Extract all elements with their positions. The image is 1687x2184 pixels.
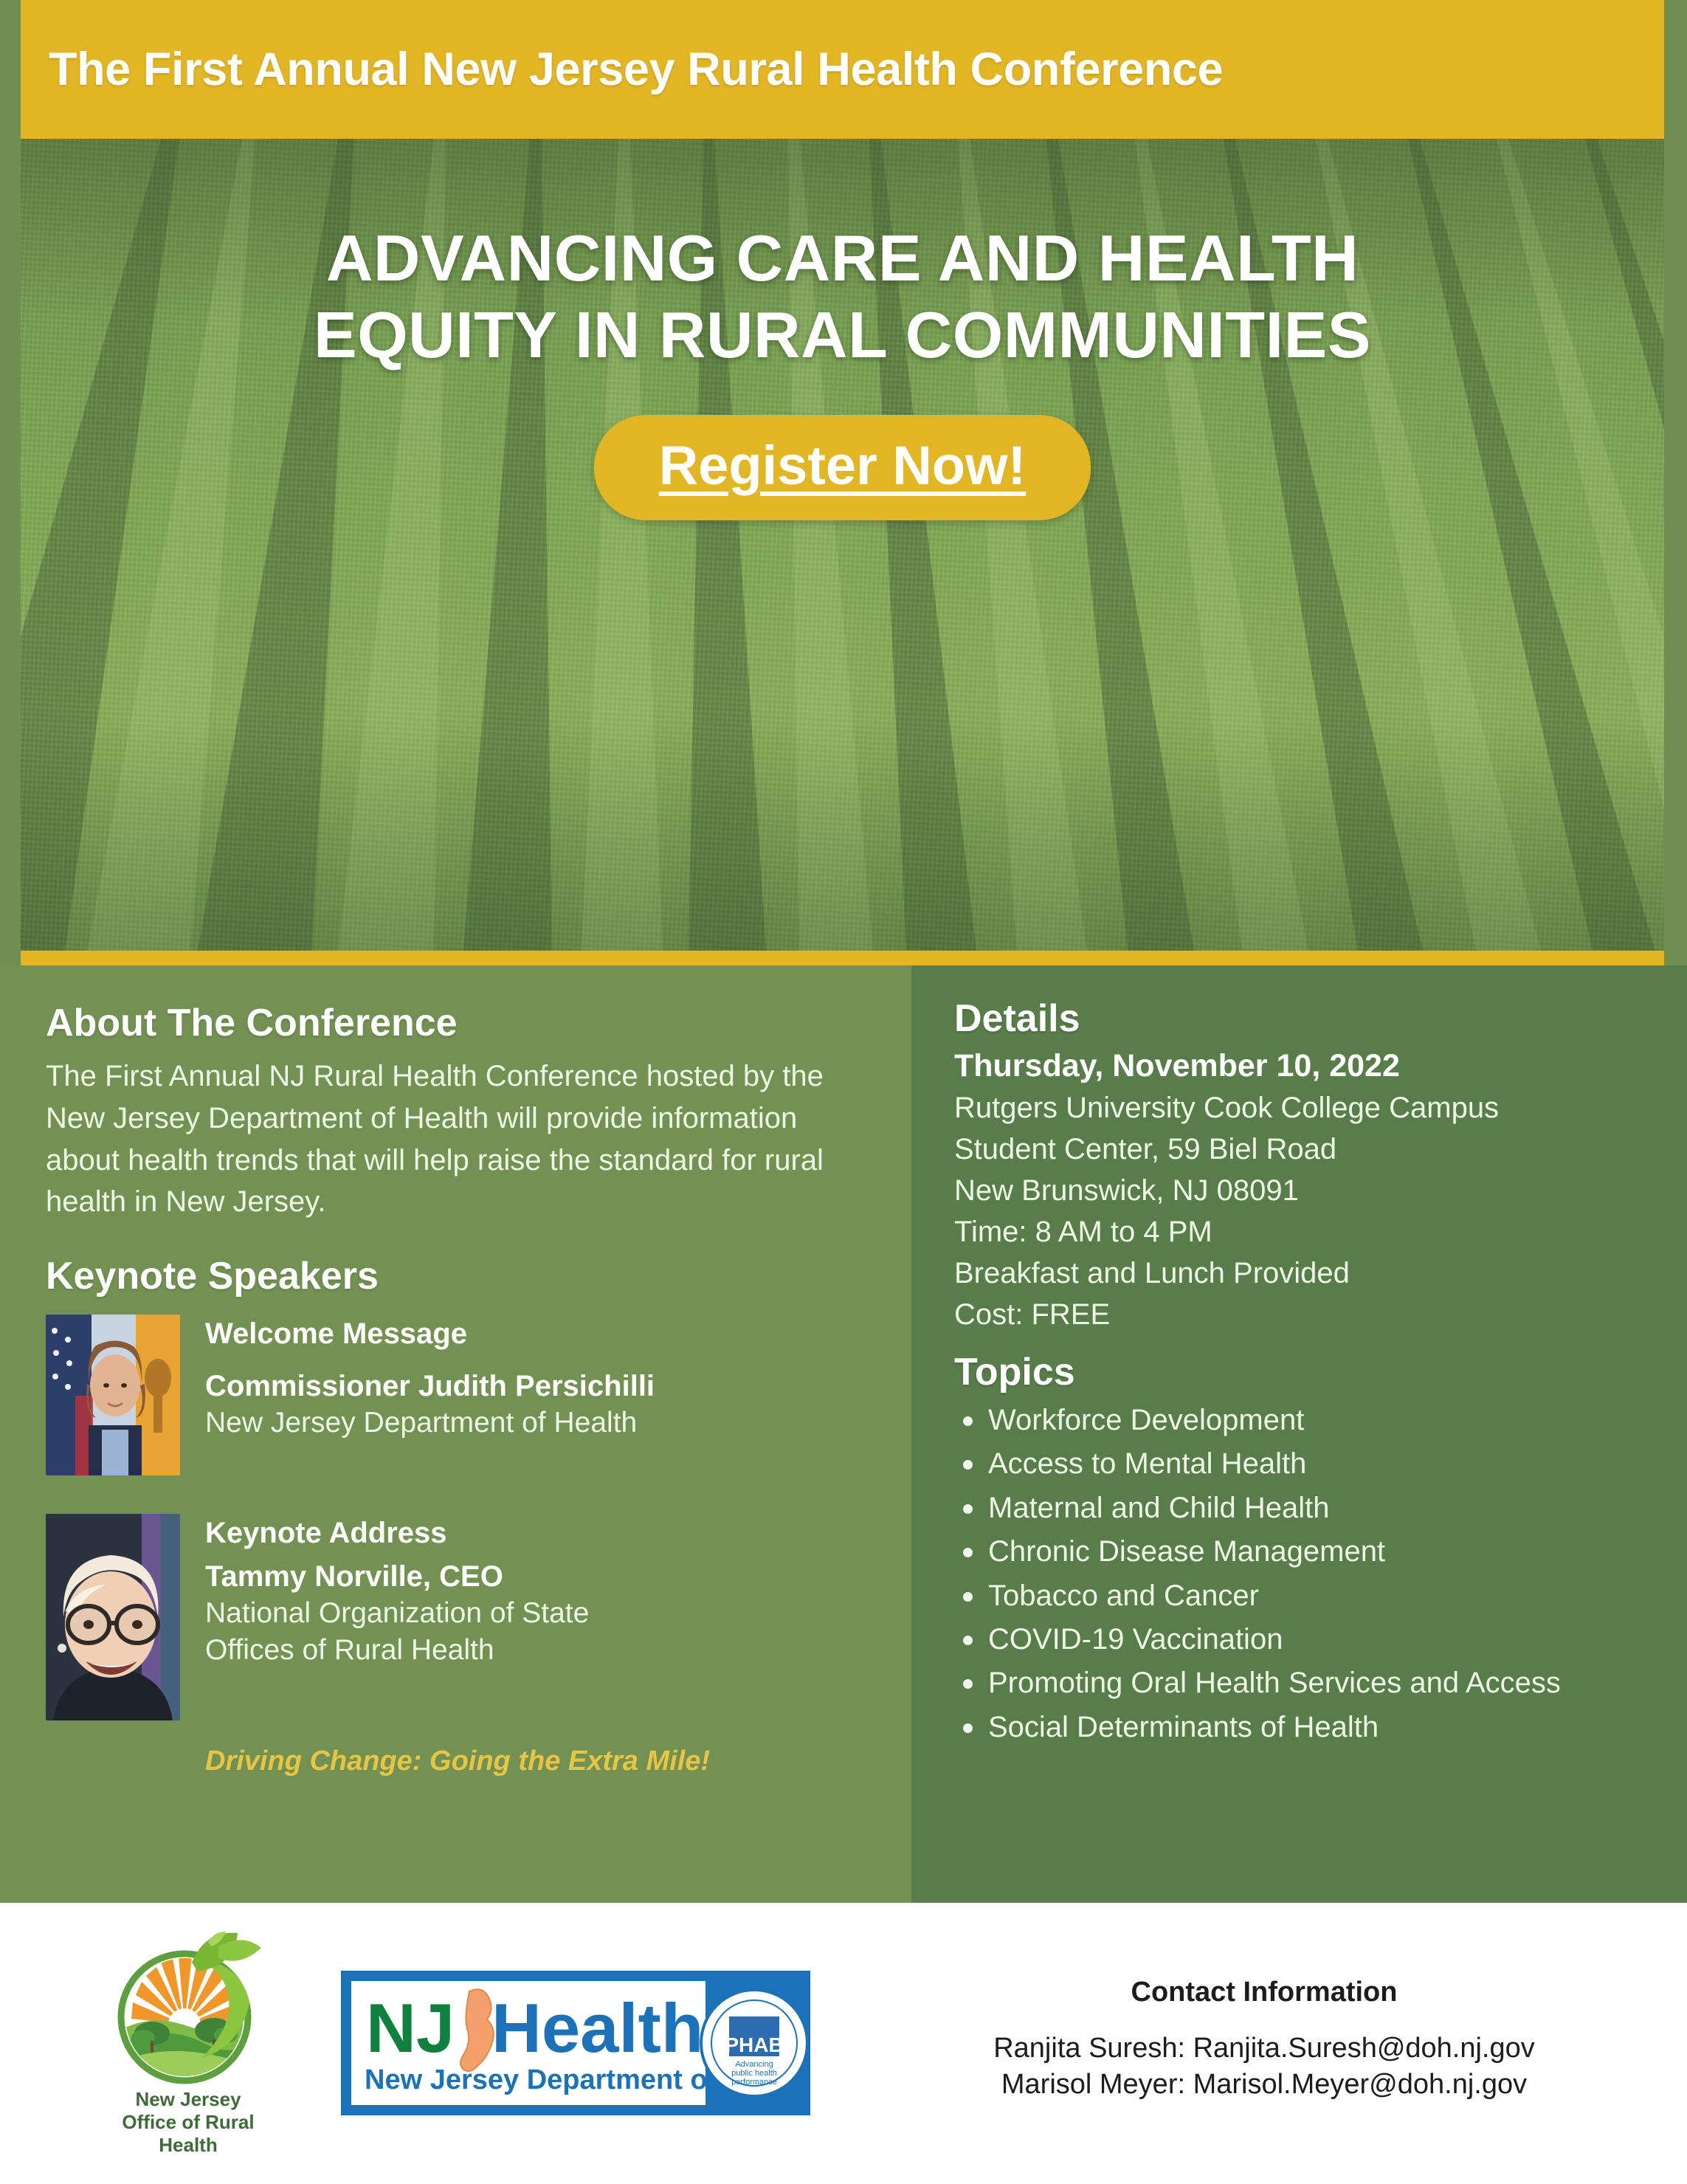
topic-item: Chronic Disease Management [954, 1532, 1650, 1571]
contact-heading: Contact Information [886, 1977, 1643, 2008]
speaker-role: Welcome Message [205, 1317, 655, 1351]
svg-text:Health: Health [491, 1989, 703, 2067]
speaker-photo-norville [46, 1514, 180, 1720]
right-column: Details Thursday, November 10, 2022 Rutg… [911, 965, 1687, 1903]
footer-logos: New Jersey Office of Rural Health NJ H [0, 1930, 886, 2156]
speaker-role: Keynote Address [205, 1517, 589, 1550]
svg-text:NJ: NJ [366, 1989, 455, 2067]
topics-list: Workforce Development Access to Mental H… [954, 1400, 1650, 1747]
svg-text:public health: public health [731, 2069, 777, 2078]
speaker-org-line-2: Offices of Rural Health [205, 1632, 589, 1669]
speaker-photo-persichilli [46, 1315, 180, 1475]
contact-information: Contact Information Ranjita Suresh: Ranj… [886, 1977, 1687, 2104]
speaker-name: Tammy Norville, CEO [205, 1560, 589, 1594]
hero-title-line-2: EQUITY IN RURAL COMMUNITIES [65, 297, 1620, 373]
contact-email-marisol: Marisol Meyer: Marisol.Meyer@doh.nj.gov [886, 2067, 1643, 2103]
rural-health-emblem-icon [111, 1930, 266, 2085]
details-line: Student Center, 59 Biel Road [954, 1129, 1650, 1170]
topic-item: Workforce Development [954, 1400, 1650, 1440]
gold-divider [21, 951, 1664, 965]
topics-heading: Topics [954, 1350, 1650, 1394]
register-now-label: Register Now! [659, 435, 1027, 496]
conference-flyer: The First Annual New Jersey Rural Health… [0, 0, 1687, 2184]
topic-item: Maternal and Child Health [954, 1488, 1650, 1528]
contact-email-ranjita: Ranjita Suresh: Ranjita.Suresh@doh.nj.go… [886, 2030, 1643, 2067]
svg-text:PHAB: PHAB [725, 2033, 783, 2056]
rural-health-caption-line-1: New Jersey [96, 2088, 280, 2111]
keynote-tagline: Driving Change: Going the Extra Mile! [205, 1746, 869, 1777]
details-line: Rutgers University Cook College Campus [954, 1087, 1650, 1129]
speaker-org: New Jersey Department of Health [205, 1405, 655, 1441]
about-heading: About The Conference [46, 1001, 869, 1045]
details-line: Time: 8 AM to 4 PM [954, 1211, 1650, 1253]
details-line: New Brunswick, NJ 08091 [954, 1170, 1650, 1211]
page-title: The First Annual New Jersey Rural Health… [49, 43, 1223, 96]
speaker-item: Welcome Message Commissioner Judith Pers… [46, 1315, 869, 1475]
speaker-text: Welcome Message Commissioner Judith Pers… [205, 1315, 655, 1441]
topic-item: COVID-19 Vaccination [954, 1619, 1650, 1659]
details-line: Breakfast and Lunch Provided [954, 1253, 1650, 1294]
svg-text:performance: performance [731, 2078, 777, 2087]
topic-item: Tobacco and Cancer [954, 1576, 1650, 1616]
speaker-org-line-1: National Organization of State [205, 1595, 589, 1632]
details-heading: Details [954, 996, 1650, 1041]
details-line: Cost: FREE [954, 1294, 1650, 1335]
hero-content: ADVANCING CARE AND HEALTH EQUITY IN RURA… [21, 220, 1664, 520]
body-section: About The Conference The First Annual NJ… [0, 965, 1687, 1903]
about-body: The First Annual NJ Rural Health Confere… [46, 1055, 869, 1223]
keynote-heading: Keynote Speakers [46, 1254, 869, 1298]
topic-item: Promoting Oral Health Services and Acces… [954, 1663, 1650, 1703]
topic-item: Social Determinants of Health [954, 1707, 1650, 1747]
footer: New Jersey Office of Rural Health NJ H [0, 1903, 1687, 2184]
speaker-item: Keynote Address Tammy Norville, CEO Nati… [46, 1514, 869, 1720]
speaker-name: Commissioner Judith Persichilli [205, 1370, 655, 1403]
speaker-text: Keynote Address Tammy Norville, CEO Nati… [205, 1514, 589, 1669]
nj-office-of-rural-health-logo: New Jersey Office of Rural Health [96, 1930, 280, 2156]
hero-section: ADVANCING CARE AND HEALTH EQUITY IN RURA… [21, 139, 1664, 951]
rural-health-caption-line-2: Office of Rural Health [96, 2111, 280, 2156]
details-date: Thursday, November 10, 2022 [954, 1048, 1650, 1084]
nj-department-of-health-logo: NJ Health New Jersey Department of Healt… [339, 1969, 812, 2117]
register-now-button[interactable]: Register Now! [594, 415, 1091, 520]
hero-title-line-1: ADVANCING CARE AND HEALTH [65, 220, 1620, 297]
topic-item: Access to Mental Health [954, 1444, 1650, 1484]
svg-text:Advancing: Advancing [735, 2060, 773, 2069]
left-column: About The Conference The First Annual NJ… [0, 965, 911, 1903]
header-banner: The First Annual New Jersey Rural Health… [21, 0, 1664, 139]
